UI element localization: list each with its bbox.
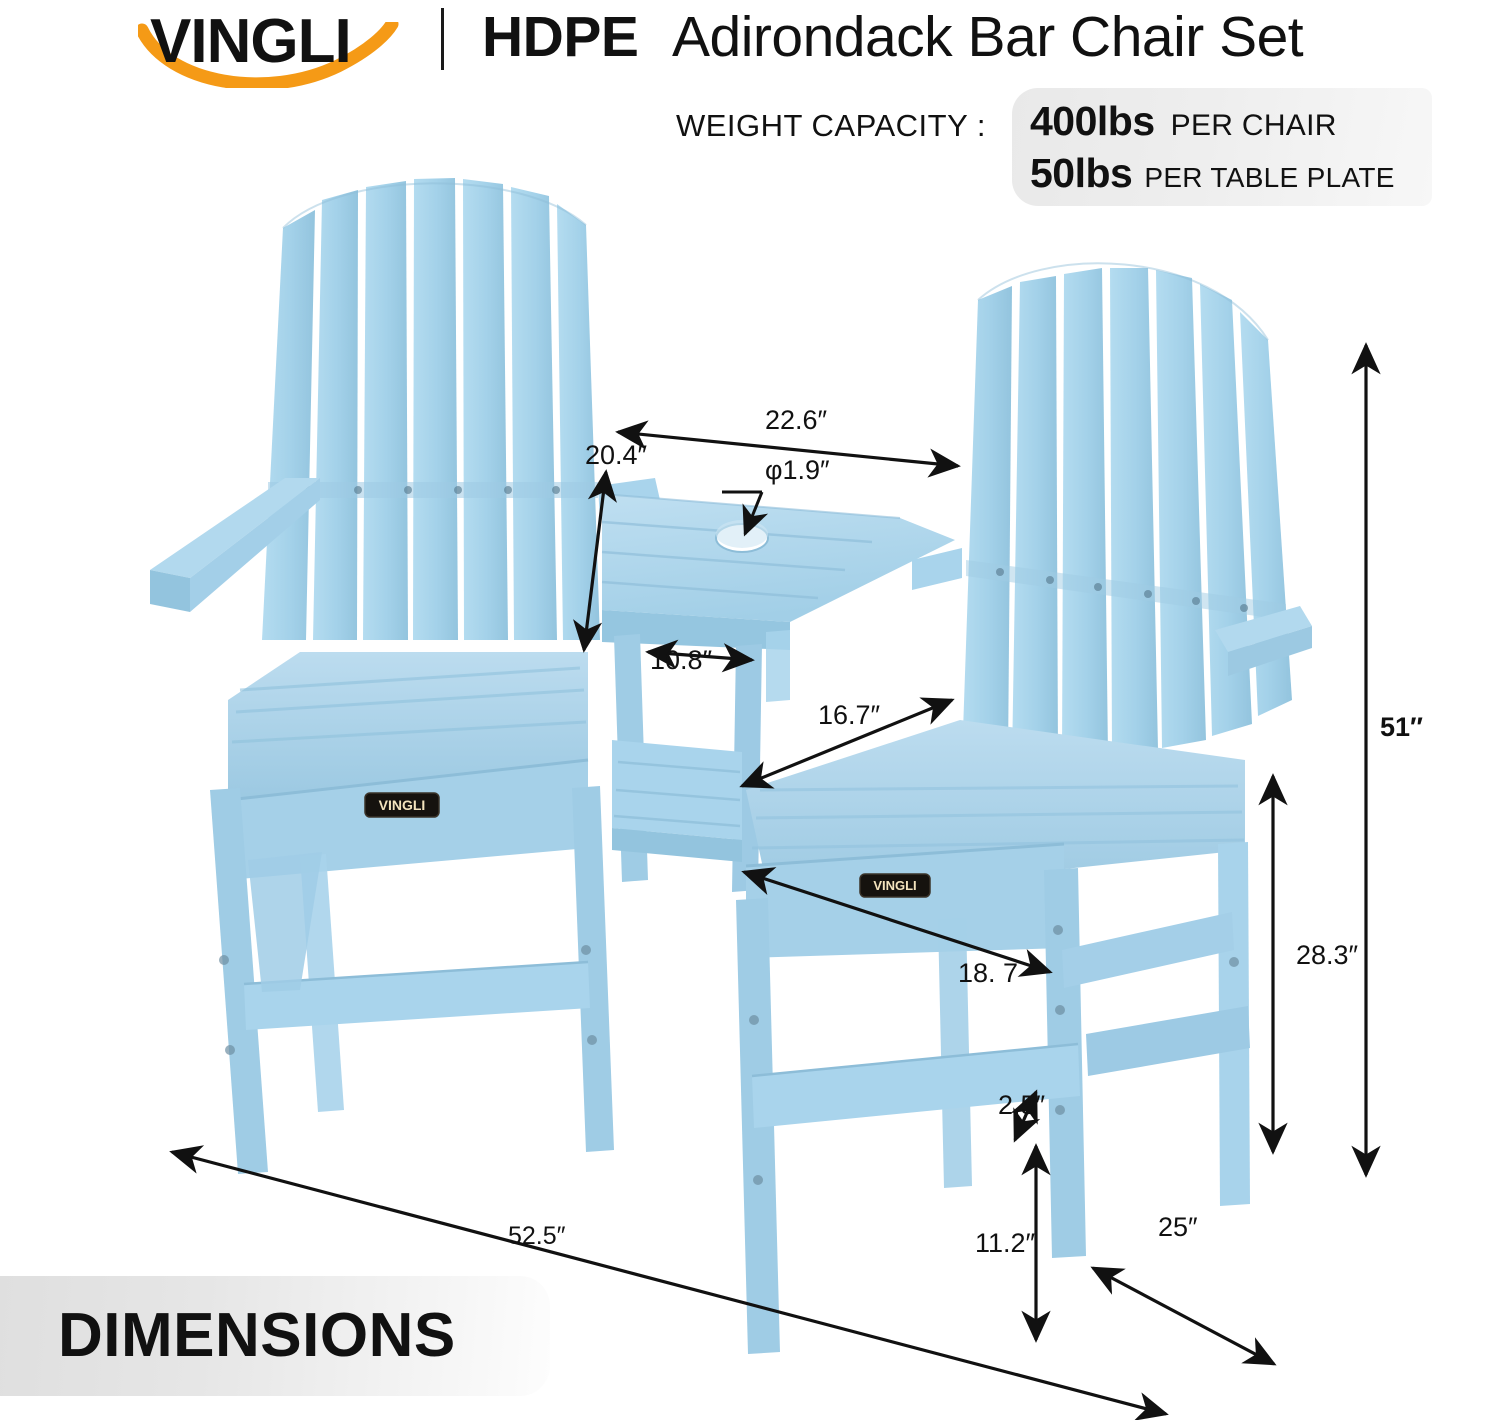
right-chair-seat xyxy=(746,720,1245,958)
dim-label-overall-width: 52.5″ xyxy=(508,1222,566,1251)
dim-label-chair-depth: 25″ xyxy=(1158,1212,1198,1243)
left-chair: VINGLI xyxy=(150,178,660,1174)
dim-label-footrest-thickness: 2.5″ xyxy=(998,1090,1045,1121)
dim-label-seat-height: 28.3″ xyxy=(1296,940,1358,971)
dim-label-table-depth: 20.4″ xyxy=(585,440,647,471)
product-illustration: VINGLI xyxy=(0,0,1500,1420)
dim-label-seat-depth: 16.7″ xyxy=(818,700,880,731)
dim-label-footrest-height: 11.2″ xyxy=(975,1228,1035,1259)
svg-text:VINGLI: VINGLI xyxy=(379,797,426,813)
svg-text:VINGLI: VINGLI xyxy=(873,878,916,893)
dimensions-banner-label: DIMENSIONS xyxy=(58,1300,456,1371)
arrow-chair-depth xyxy=(1093,1268,1274,1364)
left-chair-backrest xyxy=(262,178,600,640)
dim-label-seat-width: 18. 7 xyxy=(958,958,1018,989)
left-chair-brand-badge: VINGLI xyxy=(365,793,439,817)
dim-label-table-panel-width: 10.8″ xyxy=(650,645,712,676)
dim-label-overall-height: 51″ xyxy=(1380,712,1423,743)
dim-label-umbrella-hole: φ1.9″ xyxy=(765,455,830,486)
right-chair-backrest xyxy=(962,263,1292,760)
right-chair-brand-badge: VINGLI xyxy=(860,874,930,897)
dim-label-table-width: 22.6″ xyxy=(765,405,827,436)
left-chair-seat xyxy=(228,652,588,880)
